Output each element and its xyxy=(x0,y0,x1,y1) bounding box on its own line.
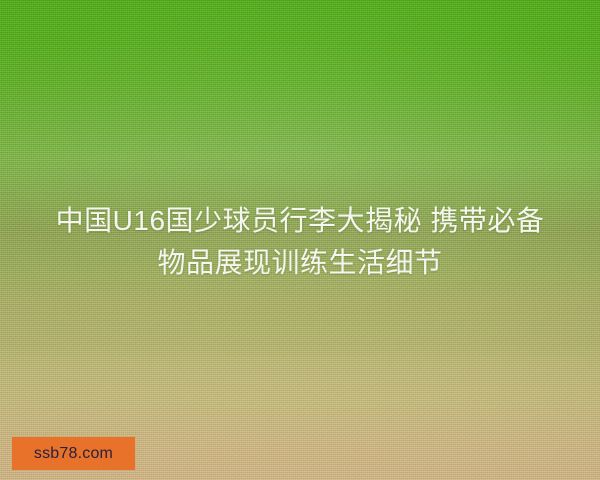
headline-line-2: 物品展现训练生活细节 xyxy=(32,242,568,284)
headline-line-1: 中国U16国少球员行李大揭秘 携带必备 xyxy=(32,200,568,242)
image-canvas: 中国U16国少球员行李大揭秘 携带必备 物品展现训练生活细节 ssb78.com xyxy=(0,0,600,480)
headline-text: 中国U16国少球员行李大揭秘 携带必备 物品展现训练生活细节 xyxy=(0,200,600,284)
watermark-label: ssb78.com xyxy=(34,446,113,462)
watermark-badge: ssb78.com xyxy=(12,437,135,470)
